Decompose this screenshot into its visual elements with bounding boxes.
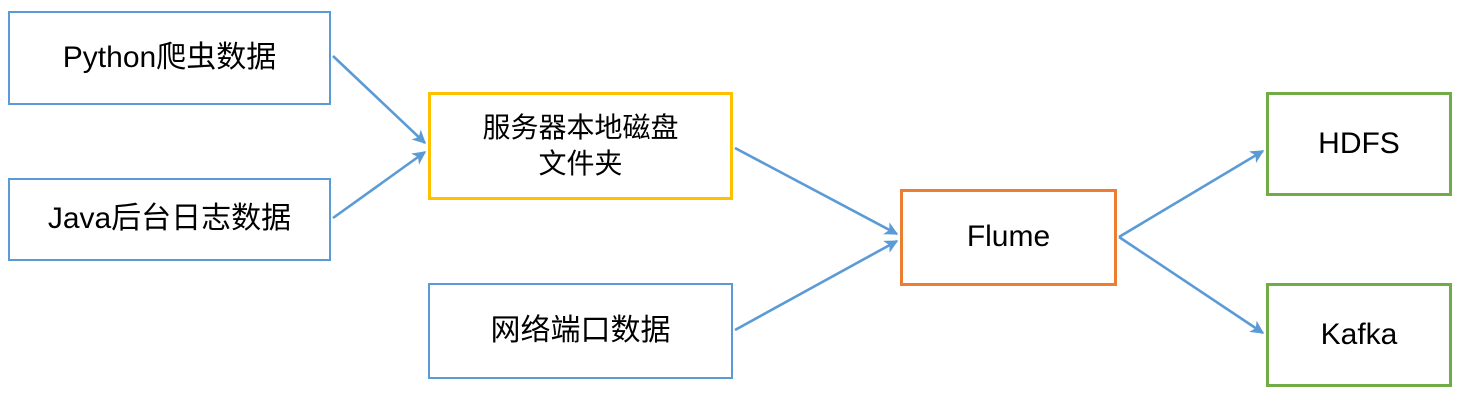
edge-disk-to-flume	[735, 148, 897, 234]
node-label-hdfs: HDFS	[1269, 125, 1449, 163]
edge-java-to-disk	[333, 152, 425, 218]
node-python-crawler-data[interactable]: Python爬虫数据	[8, 11, 331, 105]
node-server-local-disk-folder[interactable]: 服务器本地磁盘 文件夹	[428, 92, 733, 200]
node-network-port-data[interactable]: 网络端口数据	[428, 283, 733, 379]
edge-python-to-disk	[333, 56, 425, 143]
node-hdfs[interactable]: HDFS	[1266, 92, 1452, 196]
node-label-flume: Flume	[903, 218, 1114, 256]
node-label-java-backend-log-data: Java后台日志数据	[10, 200, 329, 238]
node-flume[interactable]: Flume	[900, 189, 1117, 286]
node-label-python-crawler-data: Python爬虫数据	[10, 39, 329, 77]
edge-flume-to-kafka	[1119, 237, 1263, 333]
edge-port-to-flume	[735, 241, 897, 330]
node-label-network-port-data: 网络端口数据	[430, 312, 731, 350]
diagram-canvas: Python爬虫数据Java后台日志数据服务器本地磁盘 文件夹网络端口数据Flu…	[0, 0, 1467, 407]
node-label-server-local-disk-folder: 服务器本地磁盘 文件夹	[431, 110, 730, 182]
node-label-kafka: Kafka	[1269, 316, 1449, 354]
edge-flume-to-hdfs	[1119, 151, 1263, 237]
node-java-backend-log-data[interactable]: Java后台日志数据	[8, 178, 331, 261]
node-kafka[interactable]: Kafka	[1266, 283, 1452, 387]
